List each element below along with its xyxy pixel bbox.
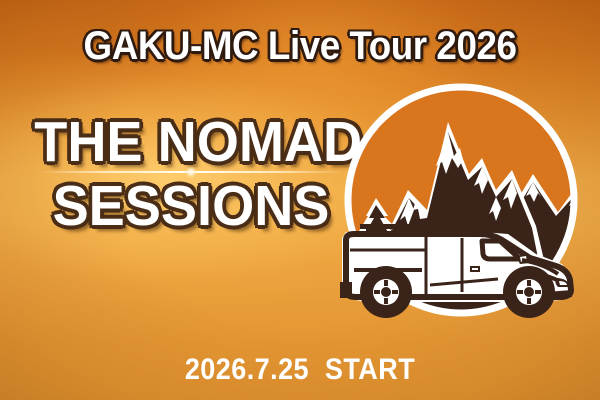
tour-title: GAKU-MC Live Tour 2026 [24, 22, 576, 70]
van-rear-bumper [340, 282, 352, 298]
headline-line-sessions: SESSIONS [34, 172, 348, 240]
start-date-text: 2026.7.25 START [30, 352, 570, 388]
camper-van-mountain-emblem [330, 78, 600, 333]
van-front-wheel [503, 266, 555, 318]
tour-poster: GAKU-MC Live Tour 2026 THE NOMAD SESSION… [0, 0, 600, 400]
van-rear-wheel [360, 266, 412, 318]
headline-block: THE NOMAD SESSIONS [26, 108, 356, 240]
